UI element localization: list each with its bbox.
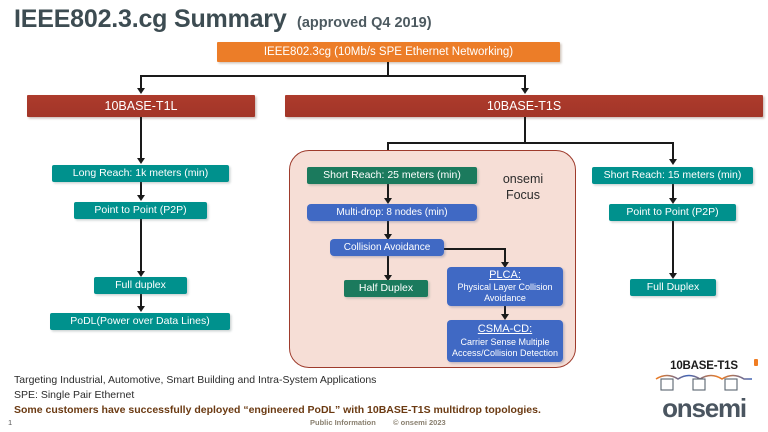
t1s-box-plca-line1: Physical Layer Collision [457,282,552,293]
connector-t1s-bar [387,142,673,144]
connector-t1s-stem [524,117,526,143]
arrow-long-reach-to-p2p [137,195,145,201]
arrow-t1l-to-long-reach [137,158,145,164]
connector-root-left-drop [140,75,142,89]
t1s-box-plca-line2: Avoidance [484,293,526,304]
onsemi-focus-label: onsemi Focus [481,171,565,203]
connector-t1l-stem [140,117,142,159]
notes-block: Targeting Industrial, Automotive, Smart … [14,373,541,418]
branch-box-10base-t1l: 10BASE-T1L [27,95,255,117]
t1s-box-point-to-point: Point to Point (P2P) [609,204,736,221]
onsemi-wordmark: onsemi [662,395,746,421]
connector-short25-to-multidrop [387,184,389,199]
page-title: IEEE802.3.cg Summary (approved Q4 2019) [14,5,432,34]
onsemi-accent-dot [754,359,758,366]
page-number: 1 [8,418,12,427]
connector-short15-to-p2p [672,184,674,199]
t1s-box-csma-cd-line1: Carrier Sense Multiple [460,337,549,348]
t1s-box-csma-cd-heading: CSMA-CD: [478,323,532,335]
onsemi-logo: onsemi [648,395,760,422]
connector-p2p-to-full-duplex [140,218,142,272]
footer-public-information: Public Information [310,418,376,427]
connector-t1s-right-drop [672,142,674,160]
connector-full-duplex-to-podl [140,293,142,307]
footer-copyright: © onsemi 2023 [393,418,446,427]
t1s-box-half-duplex: Half Duplex [344,280,428,297]
footer-info: Public Information © onsemi 2023 [310,418,446,427]
t1s-box-csma-cd-line2: Access/Collision Detection [452,348,558,359]
connector-long-reach-to-p2p [140,181,142,196]
connector-multidrop-to-collision [387,221,389,235]
t1s-box-plca-heading: PLCA: [489,269,521,281]
connector-root-stem [387,62,389,76]
t1s-box-short-reach-25: Short Reach: 25 meters (min) [307,167,477,184]
connector-root-bar [140,75,525,77]
t1s-box-short-reach-15: Short Reach: 15 meters (min) [592,167,753,184]
connector-collision-to-plca-drop [504,248,506,263]
connector-collision-to-half-duplex [387,256,389,276]
connector-root-right-drop [524,75,526,89]
page-title-suffix: (approved Q4 2019) [297,15,432,31]
onsemi-focus-label-line2: Focus [481,187,565,203]
t1s-box-plca: PLCA: Physical Layer Collision Avoidance [447,267,563,306]
note-line-3: Some customers have successfully deploye… [14,403,541,418]
arrow-root-to-t1l [137,88,145,94]
t1s-box-full-duplex: Full Duplex [630,279,716,296]
connector-p2p-to-full-duplex-right [672,221,674,274]
branch-box-10base-t1s: 10BASE-T1S [285,95,763,117]
onsemi-focus-label-line1: onsemi [481,171,565,187]
page-title-main: IEEE802.3.cg Summary [14,5,287,33]
arrow-full-duplex-to-podl [137,306,145,312]
t1s-box-csma-cd: CSMA-CD: Carrier Sense Multiple Access/C… [447,320,563,362]
t1s-box-collision-avoidance: Collision Avoidance [330,239,444,256]
t1l-box-full-duplex: Full duplex [94,277,187,294]
topology-label: 10BASE-T1S [648,360,760,372]
t1l-box-long-reach: Long Reach: 1k meters (min) [52,165,229,182]
note-line-2: SPE: Single Pair Ethernet [14,388,541,403]
arrow-t1s-to-p2p [669,159,677,165]
note-line-1: Targeting Industrial, Automotive, Smart … [14,373,541,388]
root-standard-box: IEEE802.3cg (10Mb/s SPE Ethernet Network… [217,42,560,62]
logo-block: 10BASE-T1S onsemi [648,360,760,422]
connector-collision-to-plca-bar [443,248,505,250]
slide-canvas: IEEE802.3.cg Summary (approved Q4 2019) … [0,0,768,432]
t1s-box-multi-drop: Multi-drop: 8 nodes (min) [307,204,477,221]
t1l-box-point-to-point: Point to Point (P2P) [74,202,207,219]
multidrop-topology-icon [654,372,754,392]
t1l-box-podl: PoDL(Power over Data Lines) [50,313,230,330]
arrow-root-to-t1s [521,88,529,94]
